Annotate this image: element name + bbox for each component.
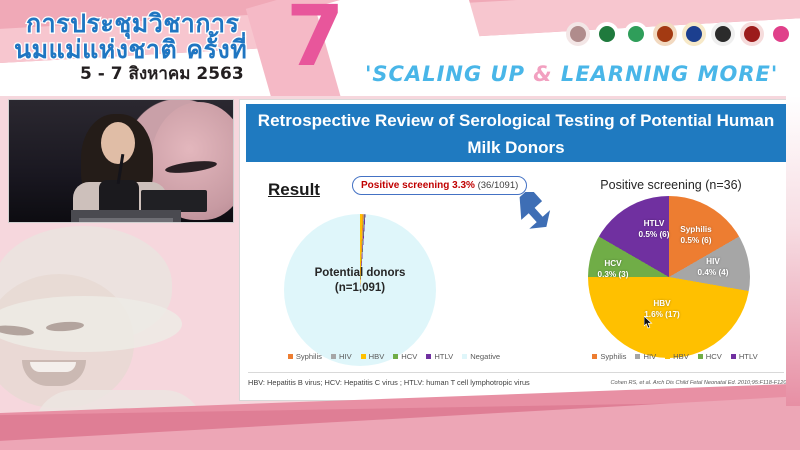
baby-watermark-image [0,222,232,422]
legend-swatch-htlv [731,354,736,359]
logo-6-inner [715,26,731,42]
legend-item-hcv: HCV [698,352,722,361]
slice-label-hiv: HIV 0.4% (4) [692,256,734,278]
legend-label-hiv: HIV [643,352,656,361]
conference-banner: การประชุมวิชาการ นมแม่แห่งชาติ ครั้งที่ … [0,0,800,96]
sponsor-logos [566,22,793,46]
logo-5-inner [686,26,702,42]
slice-htlv-value: 0.5% (6) [632,229,676,240]
slice-hiv-name: HIV [692,256,734,267]
legend-item-syphilis: Syphilis [288,352,322,361]
callout-percentage: Positive screening 3.3% [361,180,475,191]
logo-8-icon [769,22,793,46]
logo-7-icon [740,22,764,46]
presentation-slide[interactable]: Retrospective Review of Serological Test… [240,100,792,400]
positive-screening-title: Positive screening (n=36) [566,178,776,192]
logo-7-inner [744,26,760,42]
logo-5-icon [682,22,706,46]
legend-label-hbv: HBV [369,352,385,361]
pie-label-line1: Potential donors [284,266,436,281]
legend-swatch-hcv [393,354,398,359]
slice-label-syphilis: Syphilis 0.5% (6) [672,224,720,246]
legend-swatch-hbv [361,354,366,359]
slice-hbv-name: HBV [638,298,686,309]
slice-label-hcv: HCV 0.3% (3) [592,258,634,280]
logo-2-icon [595,22,619,46]
legend-swatch-hiv [331,354,336,359]
abbreviations-footnote: HBV: Hepatitis B virus; HCV: Hepatitis C… [248,378,578,387]
slogan-part2: LEARNING MORE' [553,62,779,86]
legend-swatch-htlv [426,354,431,359]
screen: การประชุมวิชาการ นมแม่แห่งชาติ ครั้งที่ … [0,0,800,450]
result-heading: Result [268,180,320,200]
slogan-part1: 'SCALING UP [365,62,533,86]
legend-label-negative: Negative [470,352,500,361]
right-edge-gradient [786,96,800,406]
speaker-video-feed[interactable] [8,99,234,223]
legend-item-hcv: HCV [393,352,417,361]
legend-label-syphilis: Syphilis [600,352,626,361]
logo-4-inner [657,26,673,42]
legend-item-negative: Negative [462,352,500,361]
logo-1-inner [570,26,586,42]
slice-label-htlv: HTLV 0.5% (6) [632,218,676,240]
conference-slogan: 'SCALING UP & LEARNING MORE' [365,62,778,86]
baby-hat-brim [0,296,182,352]
legend-left-pie: SyphilisHIVHBVHCVHTLVNegative [284,352,504,361]
slice-hcv-name: HCV [592,258,634,269]
footer-divider [248,372,784,373]
legend-swatch-hiv [635,354,640,359]
slice-hcv-value: 0.3% (3) [592,269,634,280]
legend-label-syphilis: Syphilis [296,352,322,361]
conference-date: 5 - 7 สิงหาคม 2563 [80,60,244,87]
logo-3-icon [624,22,648,46]
slice-syphilis-value: 0.5% (6) [672,235,720,246]
legend-right-pie: SyphilisHIVHBVHCVHTLV [570,352,780,361]
legend-item-syphilis: Syphilis [592,352,626,361]
legend-item-hiv: HIV [635,352,656,361]
logo-6-icon [711,22,735,46]
legend-item-hbv: HBV [665,352,689,361]
legend-label-hcv: HCV [401,352,417,361]
legend-label-hbv: HBV [673,352,689,361]
legend-item-hiv: HIV [331,352,352,361]
legend-swatch-hcv [698,354,703,359]
logo-3-inner [628,26,644,42]
logo-4-icon [653,22,677,46]
legend-swatch-negative [462,354,467,359]
legend-label-htlv: HTLV [434,352,453,361]
pie-label-line2: (n=1,091) [284,281,436,296]
legend-label-hiv: HIV [339,352,352,361]
slice-syphilis-name: Syphilis [672,224,720,235]
legend-item-htlv: HTLV [731,352,758,361]
legend-item-htlv: HTLV [426,352,453,361]
baby-teeth [30,362,76,372]
blue-arrow-icon [511,192,555,236]
callout-fraction: (36/1091) [475,180,518,191]
mouse-cursor-icon [644,316,653,329]
legend-label-htlv: HTLV [739,352,758,361]
slogan-ampersand: & [533,62,552,86]
positive-screening-callout: Positive screening 3.3% (36/1091) [352,176,527,195]
slice-hiv-value: 0.4% (4) [692,267,734,278]
legend-label-hcv: HCV [706,352,722,361]
slide-title: Retrospective Review of Serological Test… [246,104,786,162]
slice-htlv-name: HTLV [632,218,676,229]
logo-8-inner [773,26,789,42]
legend-swatch-syphilis [288,354,293,359]
conference-edition-number: 7 [286,0,344,78]
logo-2-inner [599,26,615,42]
logo-1-icon [566,22,590,46]
speaker-face [101,122,135,164]
legend-swatch-syphilis [592,354,597,359]
potential-donors-center-label: Potential donors (n=1,091) [284,266,436,296]
legend-swatch-hbv [665,354,670,359]
laptop-icon [141,190,207,212]
legend-item-hbv: HBV [361,352,385,361]
